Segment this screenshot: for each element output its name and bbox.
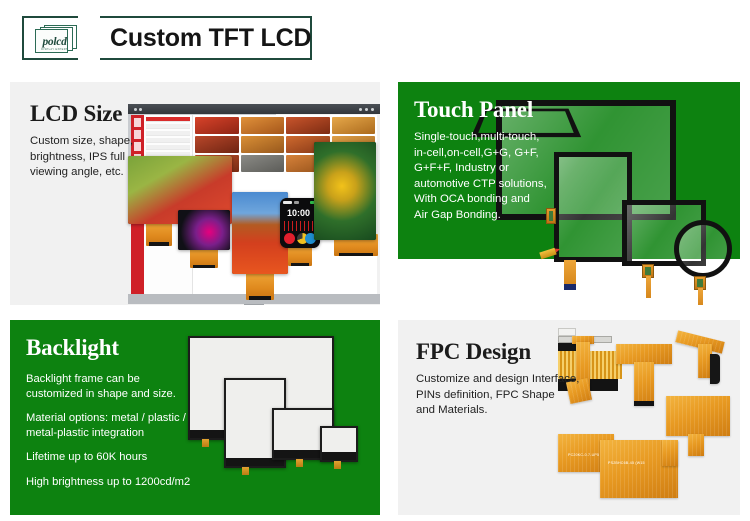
panel-body-lcd-size: Custom size, shape, brightness, IPS full… [30,134,210,181]
lcd-panel-bee-macro [314,142,376,240]
touch-panel-medium-connector [564,284,576,290]
backlight-unit-small [320,426,358,462]
watch-activity-rings [284,230,316,244]
fpc-tail-portrait [246,270,274,300]
backlight-lead [334,461,341,469]
list-item: Backlight frame can be customized in sha… [26,372,216,401]
watch-status-bar [283,201,317,205]
list-item: High brightness up to 1200cd/m2 [26,475,216,490]
poster-canvas: polcd DISPLAY EXPERT Custom TFT LCD LCD … [0,0,750,521]
fpc-f-part-label: PS2BHC6B-45 (W15 [608,462,645,466]
panel-title-touch-panel: Touch Panel [414,98,533,122]
panel-fpc-design: FPC Design Customize and design Interfac… [398,320,740,515]
logo-sheet-front: polcd DISPLAY EXPERT [35,29,68,53]
artwork-flexible-printed-circuits: PC20KC-0.7-UP5 PS2BHC6B-45 (W15 [558,328,740,515]
touch-panel-circular [674,220,732,278]
list-item: Material options: metal / plastic / meta… [26,411,216,440]
page-title: Custom TFT LCD [110,25,311,51]
touch-panel-small-ffc [646,276,651,298]
fpc-b-stem [634,362,654,406]
panel-body-touch-panel: Single-touch,multi-touch, in-cell,on-cel… [414,130,574,223]
fpc-g-connector-tab [662,440,678,466]
panel-title-backlight: Backlight [26,336,119,360]
logo-tagline: DISPLAY EXPERT [38,49,71,52]
panel-title-fpc-design: FPC Design [416,340,531,364]
backlight-feature-list: Backlight frame can be customized in sha… [26,372,216,489]
fpc-c-black-bundle [710,354,720,384]
monitor-stand [244,304,264,305]
fpc-b-head [616,344,672,364]
touch-panel-circular-ffc [698,288,703,305]
panel-body-fpc-design: Customize and design Interface, PINs def… [416,372,596,419]
panel-title-lcd-size: LCD Size [30,102,122,126]
fpc-d-body [666,396,730,436]
fpc-c-white-connector [558,328,576,336]
monitor-titlebar [128,104,380,114]
panel-backlight: Backlight Backlight frame can be customi… [10,320,380,515]
logo-sheets-icon: polcd DISPLAY EXPERT [34,25,80,52]
watch-time-label: 10:00 [287,209,310,218]
backlight-lead [296,459,303,467]
touch-panel-medium-ffc [564,260,576,286]
fpc-e-part-label: PC20KC-0.7-UP5 [568,454,599,458]
polcd-logo: polcd DISPLAY EXPERT [34,25,86,53]
list-item: Lifetime up to 60K hours [26,450,216,465]
backlight-lead [242,467,249,475]
lcd-panel-color-splash [178,210,230,250]
logo-wordmark: polcd [39,37,70,49]
panel-touch-panel: Touch Panel Single-touch,multi-touch, in… [398,82,740,305]
header: polcd DISPLAY EXPERT Custom TFT LCD [22,16,312,60]
panel-lcd-size: LCD Size Custom size, shape, brightness,… [10,82,380,305]
fpc-d-tail [688,434,704,456]
